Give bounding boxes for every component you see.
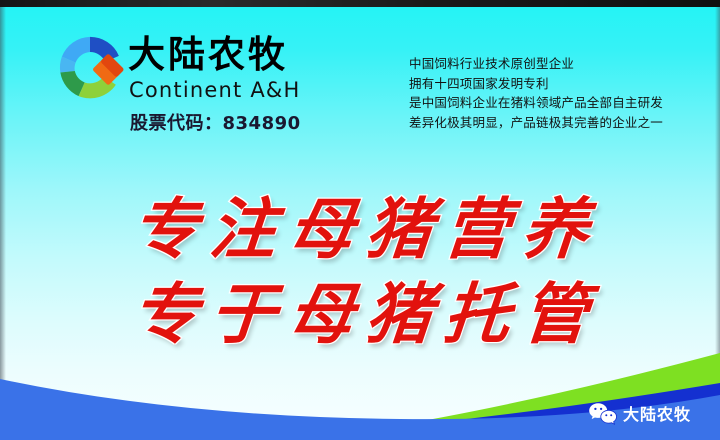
poster-canvas: 大陆农牧 Continent A&H 股票代码：834890 中国饲料行业技术原… bbox=[0, 0, 720, 440]
stock-code-label: 股票代码：834890 bbox=[130, 115, 301, 133]
brand-name-chinese: 大陆农牧 bbox=[128, 36, 288, 73]
wechat-account-name: 大陆农牧 bbox=[623, 407, 691, 423]
claim-line: 拥有十四项国家发明专利 bbox=[409, 74, 699, 94]
claim-line: 中国饲料行业技术原创型企业 bbox=[409, 54, 699, 74]
slogan-line-2: 专于母猪托管 bbox=[0, 281, 720, 347]
wechat-badge[interactable]: 大陆农牧 bbox=[588, 402, 691, 428]
slogan-line-1: 专注母猪营养 bbox=[0, 196, 720, 262]
circular-c-logo-icon bbox=[52, 30, 128, 106]
brand-name-english: Continent A&H bbox=[129, 80, 300, 101]
wechat-icon bbox=[588, 402, 618, 428]
claim-line: 是中国饲料企业在猪料领域产品全部自主研发 bbox=[409, 93, 699, 113]
top-border-strip bbox=[0, 0, 720, 7]
claim-line: 差异化极其明显，产品链极其完善的企业之一 bbox=[409, 113, 699, 133]
company-claims-block: 中国饲料行业技术原创型企业 拥有十四项国家发明专利 是中国饲料企业在猪料领域产品… bbox=[409, 54, 699, 132]
